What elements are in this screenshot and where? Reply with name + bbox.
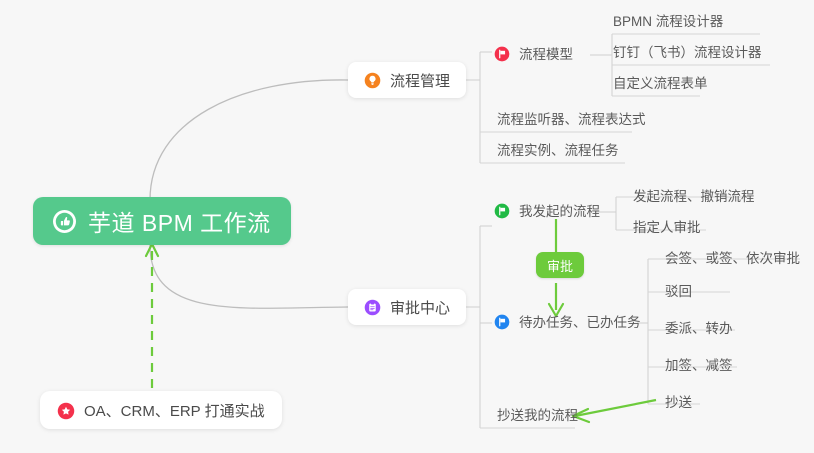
node-label-delegate-transfer: 委派、转办: [665, 320, 733, 337]
clipboard-icon: [364, 299, 381, 316]
node-multi-approval[interactable]: 会签、或签、依次审批: [656, 248, 809, 272]
node-label-todo-done-tasks: 待办任务、已办任务: [519, 314, 641, 331]
node-add-remove-sign[interactable]: 加签、减签: [656, 355, 742, 379]
node-my-initiated-process[interactable]: 我发起的流程: [490, 201, 609, 225]
node-label-start-cancel-process: 发起流程、撤销流程: [633, 188, 755, 205]
branch-label-approval-center: 审批中心: [390, 297, 450, 318]
node-custom-form[interactable]: 自定义流程表单: [604, 73, 717, 97]
node-label-dingtalk-designer: 钉钉（飞书）流程设计器: [613, 44, 762, 61]
node-label-reject: 驳回: [665, 283, 692, 300]
star-icon: [57, 402, 74, 419]
node-dingtalk-designer[interactable]: 钉钉（飞书）流程设计器: [604, 42, 771, 66]
branch-node-approval-center[interactable]: 审批中心: [348, 289, 466, 325]
node-label-my-initiated-process: 我发起的流程: [519, 203, 600, 220]
node-label-multi-approval: 会签、或签、依次审批: [665, 250, 800, 267]
node-reject[interactable]: 驳回: [656, 281, 701, 305]
lightbulb-icon: [364, 72, 381, 89]
node-label-bpmn-designer: BPMN 流程设计器: [613, 13, 723, 30]
node-label-cc-to-me: 抄送我的流程: [497, 407, 578, 424]
node-process-model[interactable]: 流程模型: [490, 44, 582, 68]
root-label: 芋道 BPM 工作流: [88, 204, 271, 238]
root-node[interactable]: 芋道 BPM 工作流: [33, 197, 291, 245]
annotation-chip-approval-label: 审批: [547, 256, 573, 275]
flag-icon: [494, 203, 511, 220]
branch-node-process-management[interactable]: 流程管理: [348, 62, 466, 98]
footnote-label: OA、CRM、ERP 打通实战: [84, 400, 265, 421]
thumbs-up-icon: [53, 210, 76, 233]
node-delegate-transfer[interactable]: 委派、转办: [656, 318, 742, 342]
flag-icon: [494, 314, 511, 331]
node-start-cancel-process[interactable]: 发起流程、撤销流程: [624, 186, 764, 210]
node-cc[interactable]: 抄送: [656, 392, 701, 416]
flag-icon: [494, 46, 511, 63]
mindmap-canvas: 芋道 BPM 工作流 流程管理 流程模型 BPMN 流程设计器 钉钉（飞书）流程: [0, 0, 814, 453]
node-label-add-remove-sign: 加签、减签: [665, 357, 733, 374]
node-label-process-model: 流程模型: [519, 46, 573, 63]
node-assignee-approval[interactable]: 指定人审批: [624, 217, 710, 241]
node-label-listener-expression: 流程监听器、流程表达式: [497, 111, 646, 128]
node-label-custom-form: 自定义流程表单: [613, 75, 708, 92]
annotation-chip-approval[interactable]: 审批: [536, 252, 584, 278]
node-bpmn-designer[interactable]: BPMN 流程设计器: [604, 11, 732, 35]
node-instance-task[interactable]: 流程实例、流程任务: [488, 140, 628, 164]
node-label-assignee-approval: 指定人审批: [633, 219, 701, 236]
branch-label-process-management: 流程管理: [390, 70, 450, 91]
node-todo-done-tasks[interactable]: 待办任务、已办任务: [490, 312, 650, 336]
node-label-cc: 抄送: [665, 394, 692, 411]
node-cc-to-me[interactable]: 抄送我的流程: [488, 405, 587, 429]
node-listener-expression[interactable]: 流程监听器、流程表达式: [488, 109, 655, 133]
node-label-instance-task: 流程实例、流程任务: [497, 142, 619, 159]
footnote-card[interactable]: OA、CRM、ERP 打通实战: [40, 391, 282, 429]
